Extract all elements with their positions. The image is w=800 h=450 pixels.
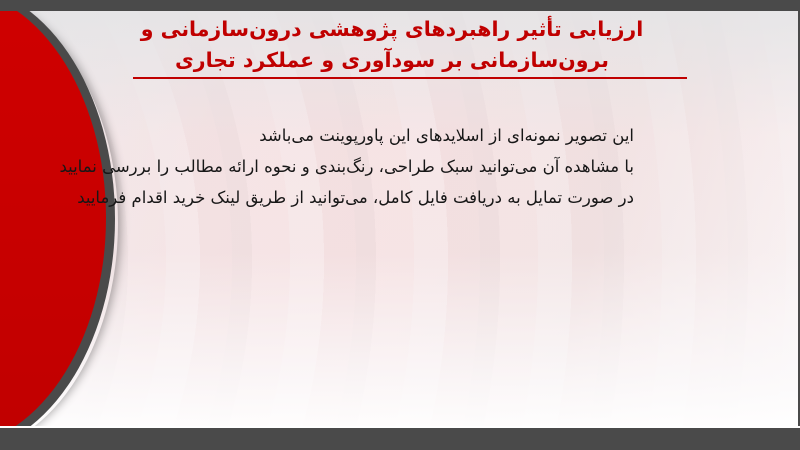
frame-top-band bbox=[0, 0, 800, 11]
frame-bottom-band bbox=[0, 428, 800, 450]
title-underline-rule bbox=[133, 77, 687, 79]
body-line-3: در صورت تمایل به دریافت فایل کامل، می‌تو… bbox=[114, 182, 634, 213]
slide-title-line-2: برون‌سازمانی بر سودآوری و عملکرد تجاری bbox=[114, 45, 670, 76]
presentation-slide: ارزیابی تأثیر راهبردهای پژوهشی درون‌سازم… bbox=[0, 0, 800, 450]
body-line-2: با مشاهده آن می‌توانید سبک طراحی، رنگ‌بن… bbox=[114, 151, 634, 182]
slide-title-line-1: ارزیابی تأثیر راهبردهای پژوهشی درون‌سازم… bbox=[114, 14, 670, 45]
slide-title: ارزیابی تأثیر راهبردهای پژوهشی درون‌سازم… bbox=[114, 14, 670, 76]
body-line-1: این تصویر نمونه‌ای از اسلایدهای این پاور… bbox=[114, 120, 634, 151]
slide-content: ارزیابی تأثیر راهبردهای پژوهشی درون‌سازم… bbox=[0, 0, 800, 450]
frame-bottom-hairline bbox=[0, 426, 800, 428]
slide-body-text: این تصویر نمونه‌ای از اسلایدهای این پاور… bbox=[114, 120, 634, 213]
